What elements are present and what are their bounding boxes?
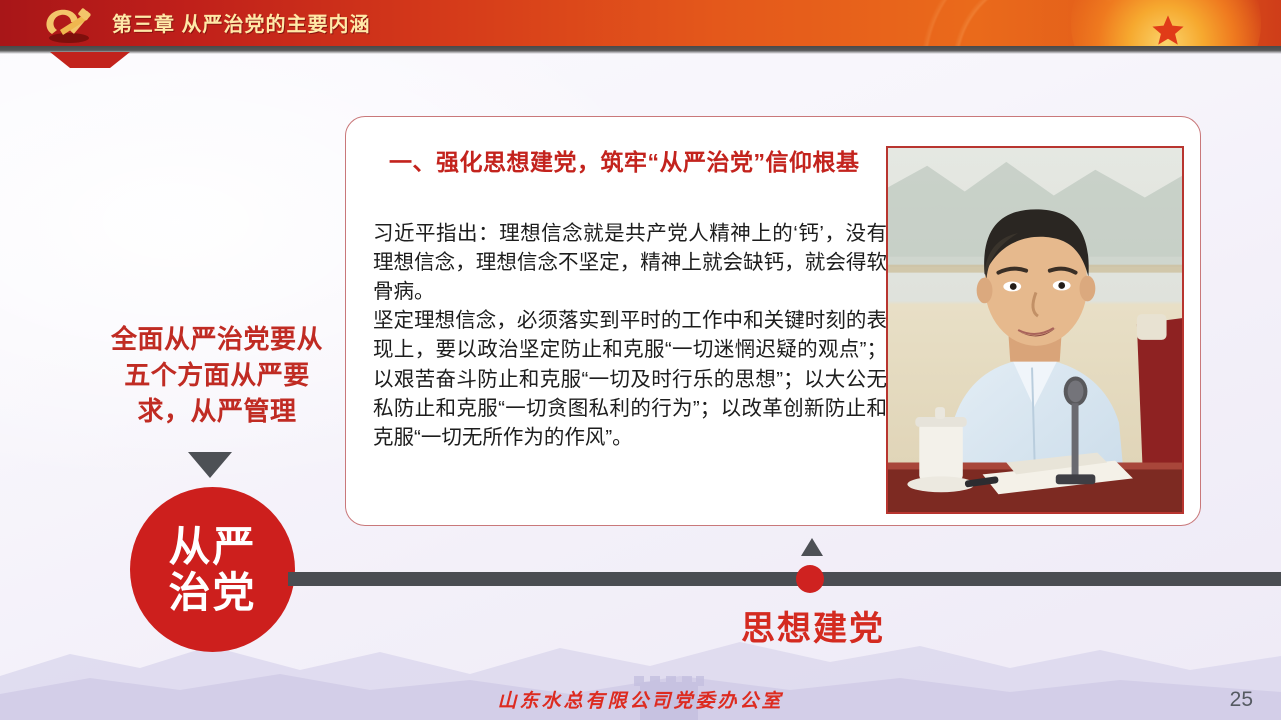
down-triangle-icon: [188, 452, 232, 478]
red-star-icon: [1151, 14, 1185, 46]
circle-label-line2: 治党: [168, 570, 256, 615]
page-title: 第三章 从严治党的主要内涵: [112, 8, 371, 37]
card-body: 习近平指出：理想信念就是共产党人精神上的‘钙’，没有理想信念，理想信念不坚定，精…: [373, 219, 887, 452]
timeline-label: 思想建党: [718, 601, 908, 650]
party-emblem-hammer-sickle-icon: [38, 4, 100, 44]
speaker-at-conference-desk-photo-icon: [888, 148, 1182, 512]
timeline-bar: [288, 572, 1281, 586]
header-notch-decoration: [50, 52, 130, 68]
card-title: 一、强化思想建党，筑牢“从严治党”信仰根基: [389, 147, 889, 177]
circle-label-line1: 从严: [168, 524, 256, 569]
left-headline: 全面从严治党要从五个方面从严要求，从严管理: [98, 322, 336, 430]
slide: 第三章 从严治党的主要内涵 全面从严治党要从五个方面从严要求，从严管理 从严 治…: [0, 0, 1281, 720]
card-paragraph-2: 坚定理想信念，必须落实到平时的工作中和关键时刻的表现上，要以政治坚定防止和克服“…: [373, 306, 887, 452]
slide-header: 第三章 从严治党的主要内涵: [0, 0, 1281, 46]
footer-organization: 山东水总有限公司党委办公室: [0, 686, 1281, 713]
timeline-dot-icon: [796, 565, 824, 593]
card-paragraph-1: 习近平指出：理想信念就是共产党人精神上的‘钙’，没有理想信念，理想信念不坚定，精…: [373, 219, 887, 306]
up-triangle-icon: [801, 538, 823, 556]
core-concept-circle: 从严 治党: [130, 487, 295, 652]
header-shadow-bar: [0, 46, 1281, 54]
speaker-photo: [886, 146, 1184, 514]
page-number: 25: [1230, 688, 1253, 712]
